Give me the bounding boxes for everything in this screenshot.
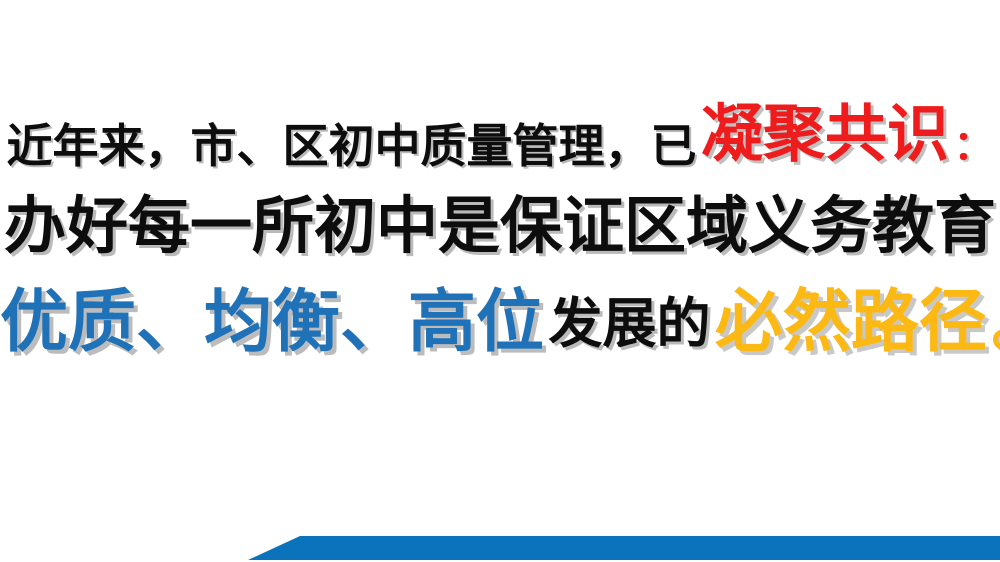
line1-run-black: 近年来，市、区初中质量管理，已 (7, 123, 697, 169)
line3-run-orange-emphasis: 必然路径 (715, 288, 987, 356)
line3-run-blue-emphasis: 优质、均衡、高位 (0, 288, 544, 356)
line1-run-red-colon: ： (953, 126, 993, 166)
line3-run-orange-period: 。 (991, 295, 1000, 355)
slide-canvas: 近年来，市、区初中质量管理，已 凝聚共识 ： 办好每一所初中是保证区域义务教育 … (0, 0, 1000, 562)
headline-line-3: 优质、均衡、高位 发展的 必然路径 。 (0, 288, 1000, 356)
headline-line-2: 办好每一所初中是保证区域义务教育 (0, 196, 1000, 258)
headline-line-1: 近年来，市、区初中质量管理，已 凝聚共识 ： (0, 104, 1000, 166)
line2-run-black: 办好每一所初中是保证区域义务教育 (4, 196, 996, 258)
line3-run-black: 发展的 (548, 297, 710, 351)
blue-arrow-bar (0, 536, 1000, 560)
headline-text-block: 近年来，市、区初中质量管理，已 凝聚共识 ： 办好每一所初中是保证区域义务教育 … (0, 0, 1000, 420)
line1-run-red-emphasis: 凝聚共识 (701, 104, 949, 166)
blue-arrow-bar-shape (0, 536, 1000, 560)
